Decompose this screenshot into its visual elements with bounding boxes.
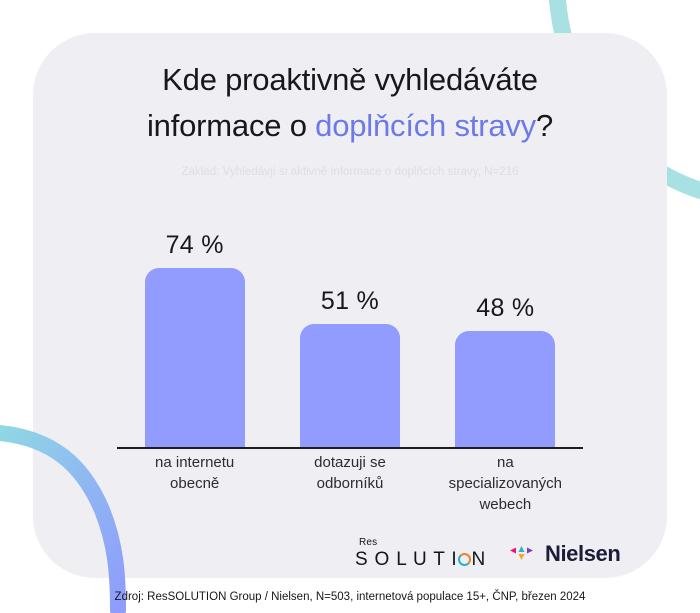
bar [300, 324, 400, 447]
title-line-2-post: ? [536, 108, 553, 143]
chart-base-note: Základ: Vyhledávjí si aktivně informace … [33, 164, 667, 180]
category-label-line: webech [431, 494, 579, 515]
x-axis-line [117, 447, 583, 449]
category-label: dotazuji seodborníků [276, 452, 424, 494]
bar-chart: 74 %51 %48 % [117, 205, 583, 450]
title-line-1: Kde proaktivně vyhledáváte [33, 57, 667, 103]
bar [145, 268, 245, 447]
ressolution-logo-solution-before: S O L U T I [355, 549, 457, 570]
category-label-line: obecně [121, 473, 269, 494]
category-label-line: odborníků [276, 473, 424, 494]
category-label: naspecializovanýchwebech [431, 452, 579, 515]
title-line-2-pre: informace o [147, 108, 315, 143]
bar-value-label: 51 % [321, 286, 379, 316]
bar-value-label: 74 % [166, 230, 224, 260]
bar-value-label: 48 % [476, 293, 534, 323]
nielsen-arrows-icon [508, 544, 538, 564]
ressolution-logo-solution: S O L U T IN [355, 550, 486, 569]
page-title: Kde proaktivně vyhledáváte informace o d… [33, 57, 667, 149]
category-label-line: specializovaných [431, 473, 579, 494]
nielsen-logo: Nielsen [508, 541, 620, 567]
category-label-line: na [431, 452, 579, 473]
source-note: Zdroj: ResSOLUTION Group / Nielsen, N=50… [0, 589, 700, 605]
nielsen-wordmark: Nielsen [545, 541, 620, 567]
bar-group [455, 331, 555, 447]
ressolution-logo-solution-after: N [471, 549, 486, 570]
category-label-line: dotazuji se [276, 452, 424, 473]
category-label: na internetuobecně [121, 452, 269, 494]
logo-row: Res S O L U T IN Nielsen [355, 537, 620, 571]
title-highlight: doplňcích stravy [315, 108, 536, 143]
ressolution-logo: Res S O L U T IN [355, 539, 486, 569]
x-axis-labels: na internetuobecnědotazuji seodborníkůna… [117, 452, 583, 542]
ressolution-logo-res: Res [359, 538, 377, 548]
ressolution-ring-icon [458, 553, 471, 566]
bar-group [300, 324, 400, 447]
title-line-2: informace o doplňcích stravy? [33, 103, 667, 149]
bar [455, 331, 555, 447]
bar-group [145, 268, 245, 447]
infographic-card: Kde proaktivně vyhledáváte informace o d… [0, 0, 700, 613]
category-label-line: na internetu [121, 452, 269, 473]
